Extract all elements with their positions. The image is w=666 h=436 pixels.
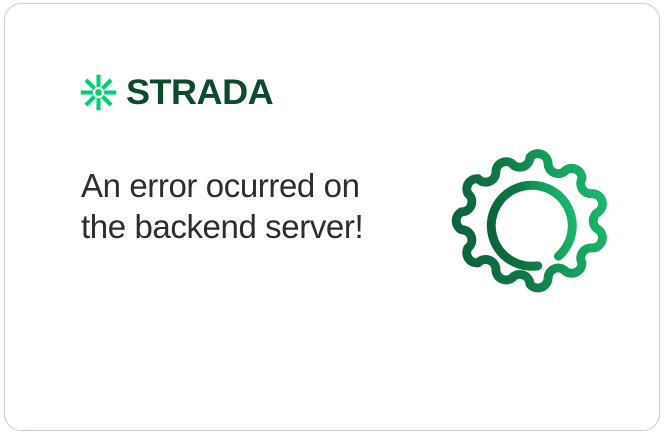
brand-lockup: STRADA (80, 74, 269, 111)
gear-cog-icon (449, 145, 611, 309)
brand-wordmark: STRADA (126, 75, 273, 110)
error-message-text: An error ocurred on the backend server! (81, 165, 381, 247)
error-card: STRADA An error ocurred on the backend s… (4, 3, 660, 431)
strada-asterisk-icon (80, 74, 117, 111)
